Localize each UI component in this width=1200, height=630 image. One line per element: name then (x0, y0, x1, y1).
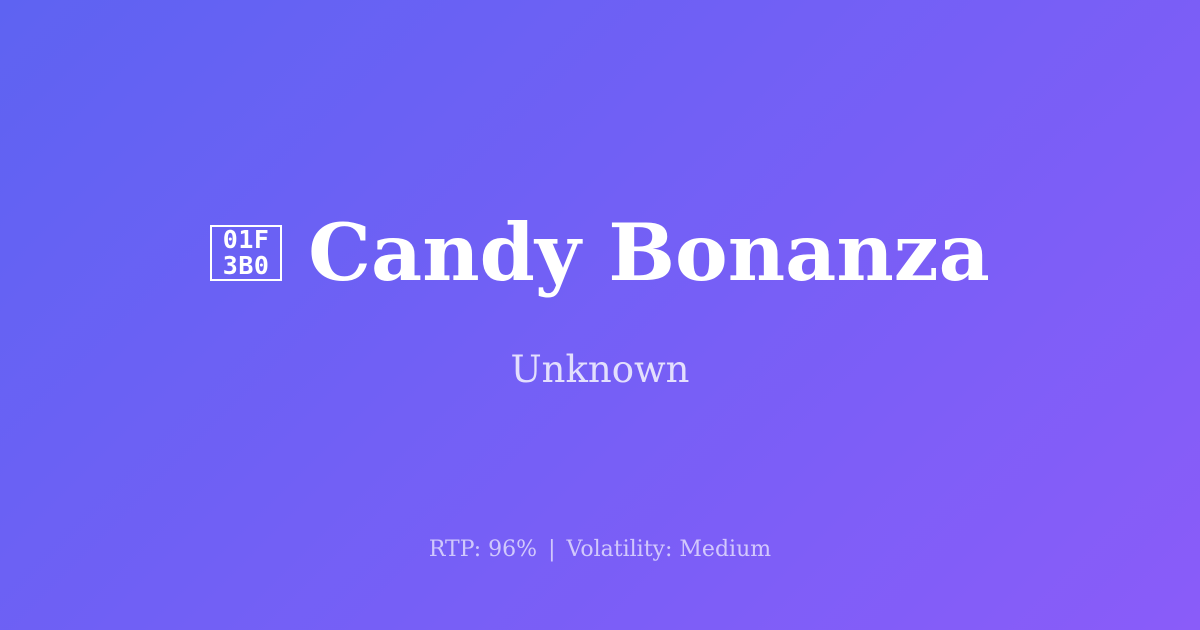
volatility-label: Volatility: (567, 537, 673, 562)
volatility-value: Medium (679, 537, 771, 562)
tofu-codepoint-top: 01F (223, 227, 270, 253)
slot-machine-icon: 01F 3B0 (210, 225, 282, 281)
card-center-content: 01F 3B0 Candy Bonanza Unknown (0, 0, 1200, 630)
meta-separator: | (544, 537, 559, 562)
game-preview-card: 01F 3B0 Candy Bonanza Unknown RTP: 96% |… (0, 0, 1200, 630)
rtp-label: RTP: (429, 537, 481, 562)
game-stats-line: RTP: 96% | Volatility: Medium (0, 537, 1200, 562)
tofu-codepoint-bottom: 3B0 (223, 253, 270, 279)
title-row: 01F 3B0 Candy Bonanza (210, 213, 990, 292)
page-title: Candy Bonanza (308, 213, 990, 292)
game-provider-subtitle: Unknown (510, 348, 689, 391)
rtp-value: 96% (488, 537, 537, 562)
